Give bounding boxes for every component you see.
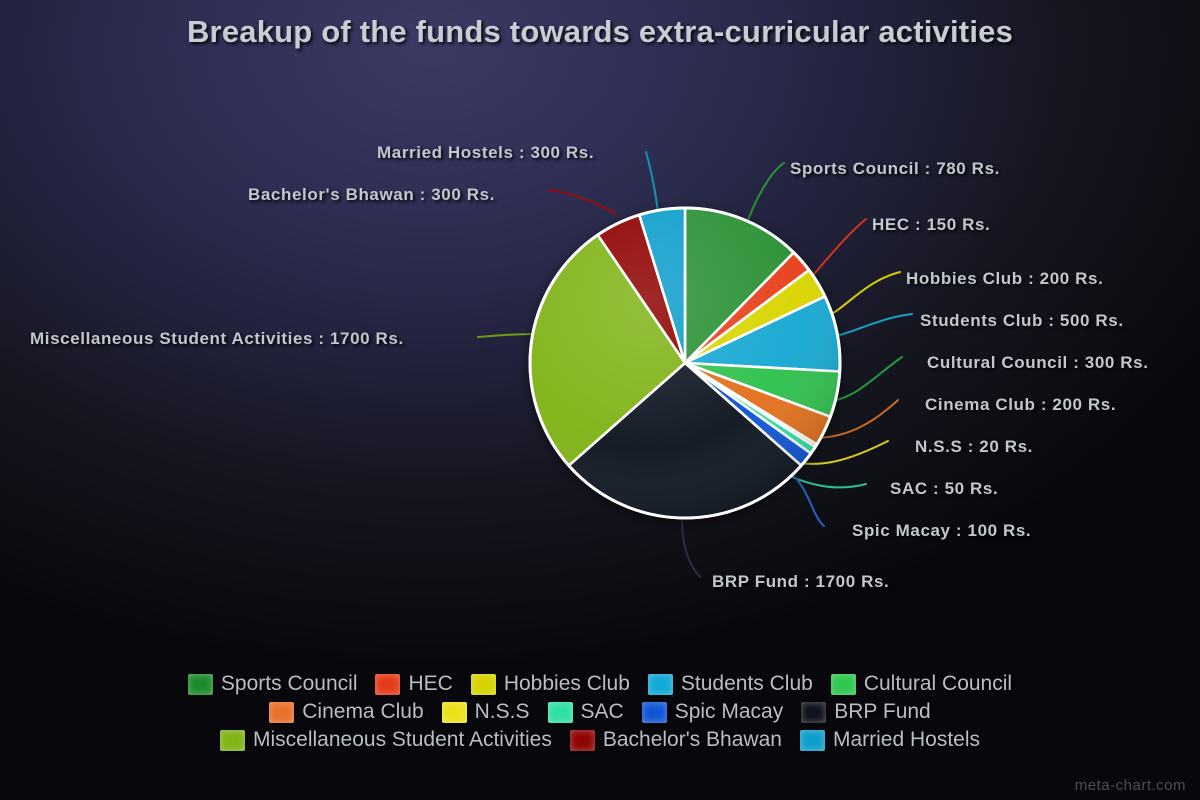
legend-swatch-icon <box>801 702 826 723</box>
callout-miscellaneous: Miscellaneous Student Activities : 1700 … <box>30 329 404 349</box>
watermark: meta-chart.com <box>1075 777 1186 794</box>
legend-item[interactable]: Hobbies Club <box>471 672 630 696</box>
legend-swatch-icon <box>220 730 245 751</box>
chart-root: Breakup of the funds towards extra-curri… <box>0 0 1200 800</box>
leader-line-sports-council <box>745 163 784 228</box>
callout-cinema-club: Cinema Club : 200 Rs. <box>925 395 1116 415</box>
legend-item[interactable]: Miscellaneous Student Activities <box>220 728 552 752</box>
callout-bachelors-bhawan: Bachelor's Bhawan : 300 Rs. <box>248 185 495 205</box>
callout-hec: HEC : 150 Rs. <box>872 215 990 235</box>
legend-label: Bachelor's Bhawan <box>603 728 782 752</box>
legend-row: Miscellaneous Student ActivitiesBachelor… <box>211 728 989 752</box>
legend-label: Spic Macay <box>675 700 784 724</box>
legend-row: Cinema ClubN.S.SSACSpic MacayBRP Fund <box>260 700 939 724</box>
legend-swatch-icon <box>648 674 673 695</box>
callout-nss: N.S.S : 20 Rs. <box>915 437 1033 457</box>
legend-item[interactable]: Cultural Council <box>831 672 1012 696</box>
legend-swatch-icon <box>642 702 667 723</box>
pie-slices-group <box>530 208 840 518</box>
legend-label: N.S.S <box>475 700 530 724</box>
leader-line-miscellaneous <box>478 334 534 337</box>
legend-label: Sports Council <box>221 672 358 696</box>
callout-spic-macay: Spic Macay : 100 Rs. <box>852 521 1031 541</box>
legend-label: Cultural Council <box>864 672 1012 696</box>
legend-swatch-icon <box>831 674 856 695</box>
legend-swatch-icon <box>188 674 213 695</box>
legend-item[interactable]: HEC <box>375 672 452 696</box>
leader-line-students-club <box>836 314 912 336</box>
legend-swatch-icon <box>548 702 573 723</box>
callout-hobbies-club: Hobbies Club : 200 Rs. <box>906 269 1103 289</box>
legend-label: Cinema Club <box>302 700 423 724</box>
legend-label: BRP Fund <box>834 700 931 724</box>
legend-item[interactable]: Sports Council <box>188 672 358 696</box>
legend-item[interactable]: Students Club <box>648 672 813 696</box>
legend-item[interactable]: N.S.S <box>442 700 530 724</box>
legend-item[interactable]: Married Hostels <box>800 728 980 752</box>
callout-brp-fund: BRP Fund : 1700 Rs. <box>712 572 889 592</box>
leader-line-married-hostels <box>646 152 658 214</box>
legend-label: HEC <box>408 672 452 696</box>
legend-item[interactable]: SAC <box>548 700 624 724</box>
legend-label: SAC <box>581 700 624 724</box>
legend-item[interactable]: BRP Fund <box>801 700 931 724</box>
legend-item[interactable]: Cinema Club <box>269 700 423 724</box>
legend-swatch-icon <box>570 730 595 751</box>
legend-swatch-icon <box>800 730 825 751</box>
callout-students-club: Students Club : 500 Rs. <box>920 311 1124 331</box>
legend: Sports CouncilHECHobbies ClubStudents Cl… <box>0 672 1200 752</box>
legend-swatch-icon <box>269 702 294 723</box>
legend-row: Sports CouncilHECHobbies ClubStudents Cl… <box>179 672 1021 696</box>
callout-cultural-council: Cultural Council : 300 Rs. <box>927 353 1149 373</box>
legend-label: Miscellaneous Student Activities <box>253 728 552 752</box>
callout-married-hostels: Married Hostels : 300 Rs. <box>377 143 594 163</box>
legend-swatch-icon <box>471 674 496 695</box>
legend-label: Married Hostels <box>833 728 980 752</box>
callout-sac: SAC : 50 Rs. <box>890 479 998 499</box>
leader-line-spic-macay <box>790 472 824 526</box>
legend-item[interactable]: Bachelor's Bhawan <box>570 728 782 752</box>
callout-sports-council: Sports Council : 780 Rs. <box>790 159 1000 179</box>
leader-line-bachelors-bhawan <box>548 190 616 214</box>
legend-swatch-icon <box>375 674 400 695</box>
legend-swatch-icon <box>442 702 467 723</box>
legend-item[interactable]: Spic Macay <box>642 700 784 724</box>
legend-label: Students Club <box>681 672 813 696</box>
legend-label: Hobbies Club <box>504 672 630 696</box>
leader-line-brp-fund <box>682 520 700 577</box>
